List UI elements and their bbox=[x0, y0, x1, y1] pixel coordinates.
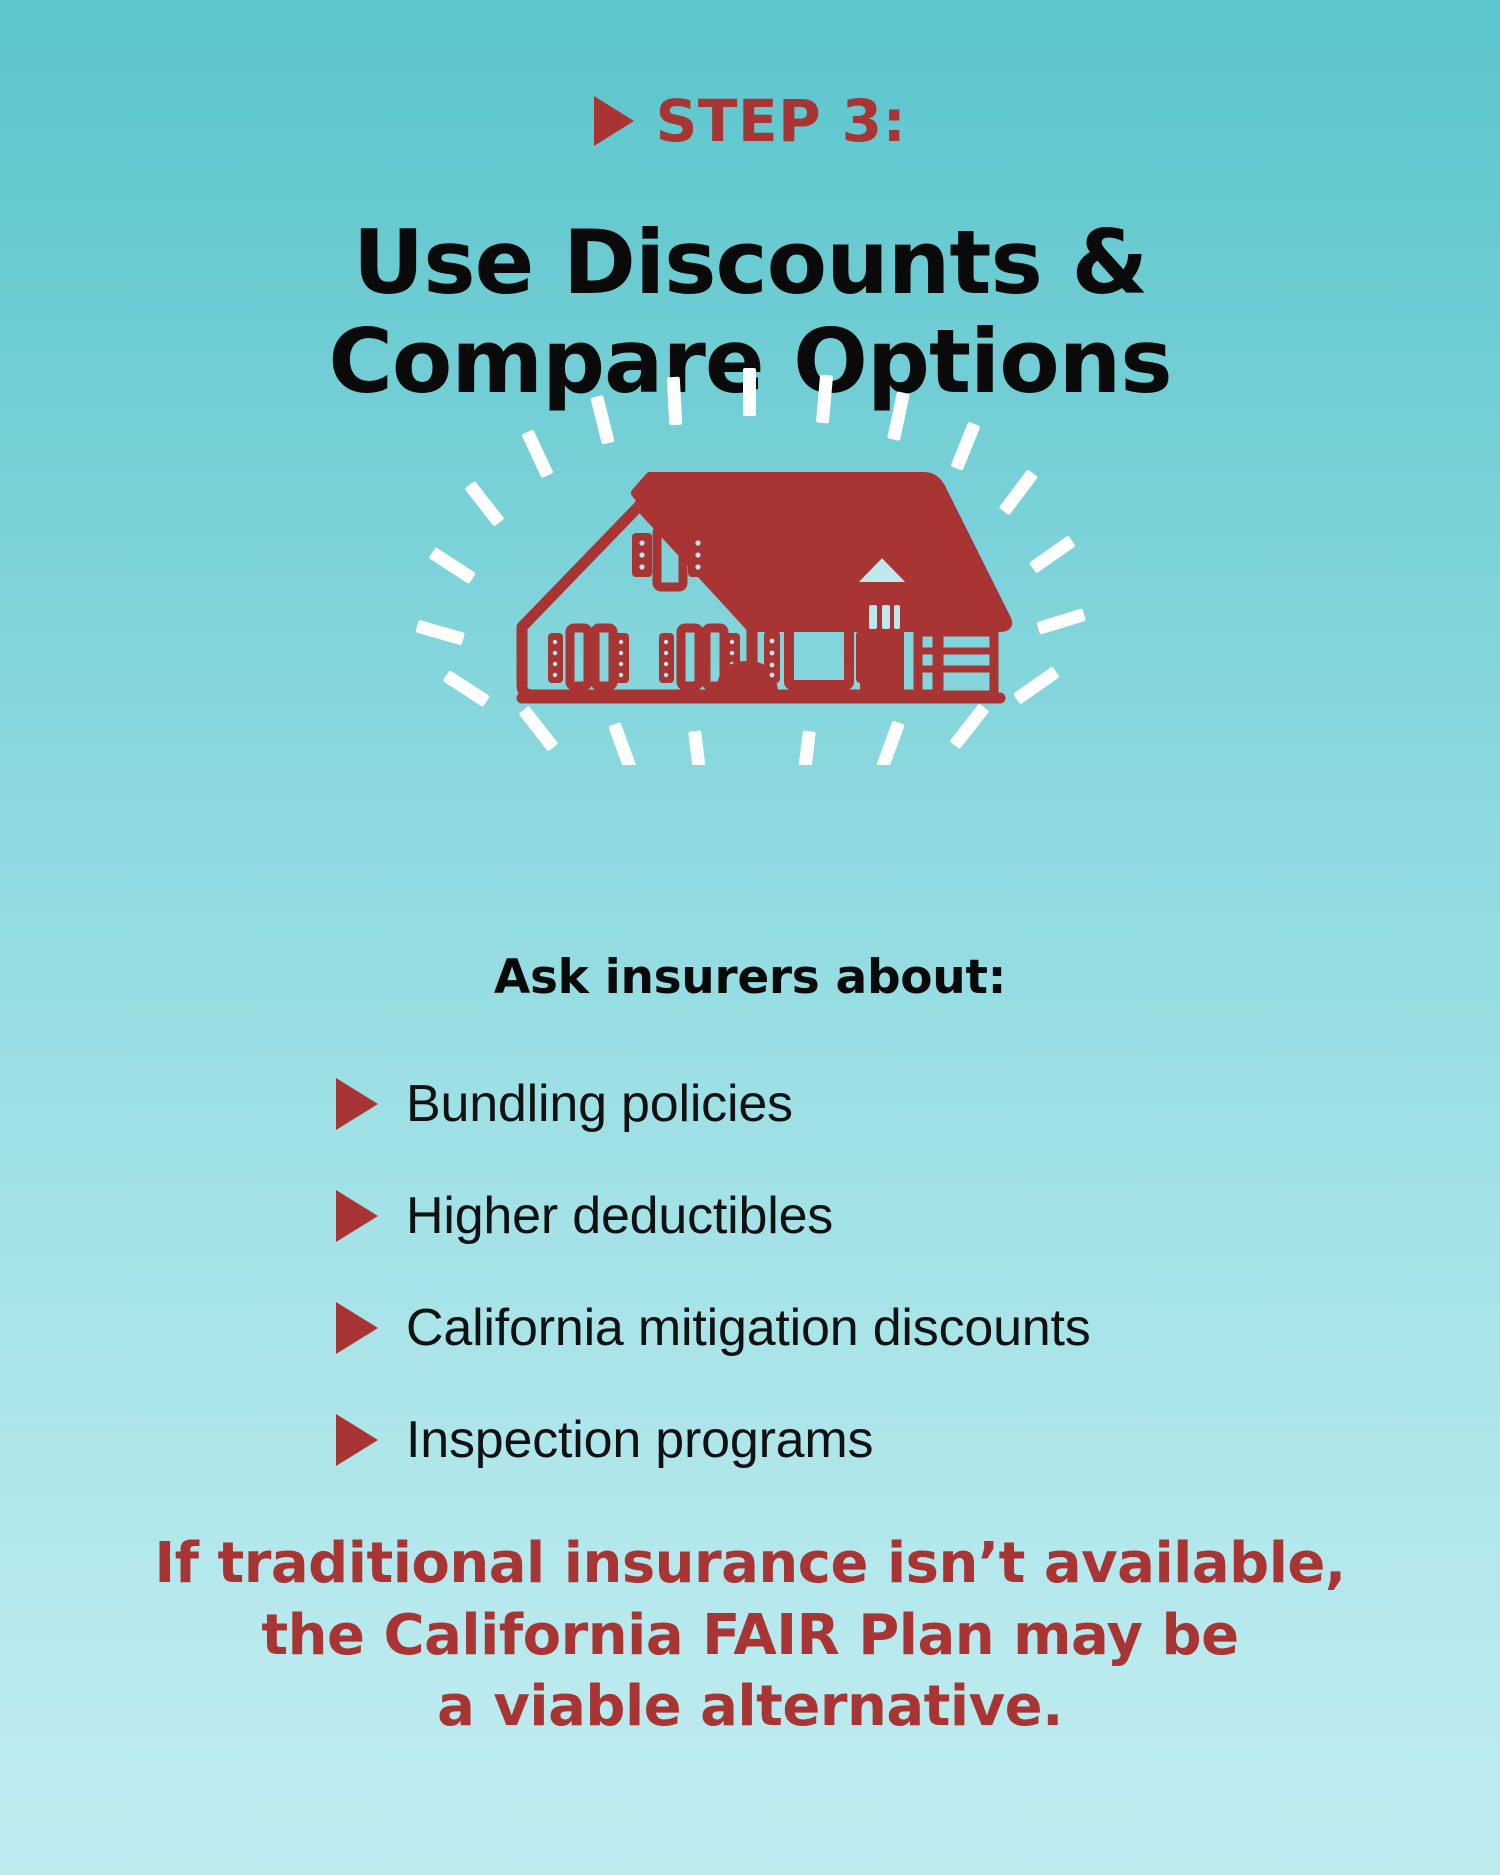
house-illustration bbox=[0, 360, 1500, 770]
window-left-1 bbox=[548, 628, 629, 686]
discount-list: Bundling policies Higher deductibles Cal… bbox=[0, 1048, 1500, 1496]
garage-door bbox=[918, 597, 994, 695]
closing-line-1: If traditional insurance isn’t available… bbox=[0, 1528, 1500, 1600]
triangle-right-icon bbox=[336, 1190, 378, 1242]
closing-line-2: the California FAIR Plan may be bbox=[0, 1600, 1500, 1672]
closing-statement: If traditional insurance isn’t available… bbox=[0, 1528, 1500, 1743]
list-item: Higher deductibles bbox=[336, 1160, 833, 1272]
triangle-right-icon bbox=[336, 1302, 378, 1354]
step-label-row: STEP 3: bbox=[0, 92, 1500, 150]
list-item-label: California mitigation discounts bbox=[406, 1302, 1091, 1354]
list-item: Inspection programs bbox=[336, 1384, 873, 1496]
triangle-right-icon bbox=[594, 96, 634, 146]
list-item: Bundling policies bbox=[336, 1048, 793, 1160]
house-body bbox=[522, 477, 1007, 699]
page-title-line-1: Use Discounts & bbox=[0, 214, 1500, 313]
list-item-label: Inspection programs bbox=[406, 1414, 873, 1466]
house-with-rays-icon bbox=[400, 365, 1100, 765]
triangle-right-icon bbox=[336, 1414, 378, 1466]
closing-line-3: a viable alternative. bbox=[0, 1671, 1500, 1743]
step-label: STEP 3: bbox=[656, 92, 907, 150]
list-item-label: Higher deductibles bbox=[406, 1190, 833, 1242]
infographic-poster: STEP 3: Use Discounts & Compare Options bbox=[0, 0, 1500, 1875]
list-item-label: Bundling policies bbox=[406, 1078, 793, 1130]
subhead: Ask insurers about: bbox=[0, 950, 1500, 1005]
front-door bbox=[860, 591, 904, 699]
triangle-right-icon bbox=[336, 1078, 378, 1130]
window-front bbox=[764, 627, 872, 685]
list-item: California mitigation discounts bbox=[336, 1272, 1091, 1384]
